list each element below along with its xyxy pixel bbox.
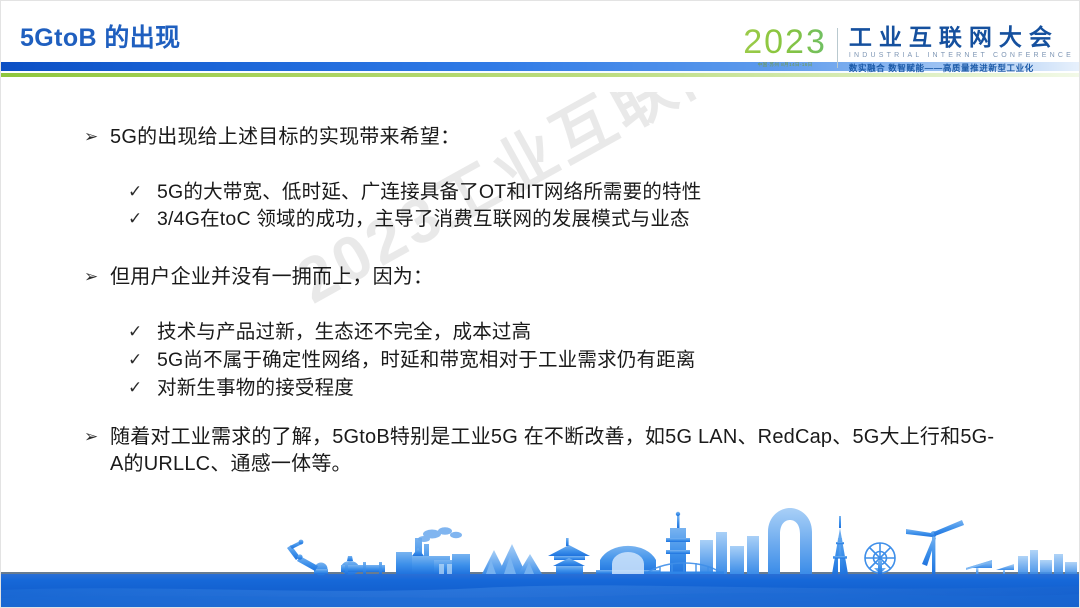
presentation-slide: 5GtoB 的出现 2023 中国·苏州 8月14日-16日 工业互联网大会 I… <box>0 0 1080 608</box>
bullet-text-1: 5G的出现给上述目标的实现带来希望： <box>110 124 460 151</box>
arrow-bullet-icon: ➢ <box>84 124 110 149</box>
logo-english-title: INDUSTRIAL INTERNET CONFERENCE <box>849 52 1074 59</box>
bullet-item-1: ➢ 5G的出现给上述目标的实现带来希望： <box>84 124 460 151</box>
sub-bullet-item-4: ✓ 5G尚不属于确定性网络，时延和带宽相对于工业需求仍有距离 <box>128 348 696 373</box>
check-bullet-icon: ✓ <box>128 376 157 400</box>
bullet-item-2: ➢ 但用户企业并没有一拥而上，因为： <box>84 264 433 291</box>
check-bullet-icon: ✓ <box>128 320 157 344</box>
sub-bullet-item-3: ✓ 技术与产品过新，生态还不完全，成本过高 <box>128 320 531 345</box>
sub-bullet-text-3: 技术与产品过新，生态还不完全，成本过高 <box>157 320 531 345</box>
sub-bullet-text-2: 3/4G在toC 领域的成功，主导了消费互联网的发展模式与业态 <box>157 207 690 232</box>
sub-bullet-item-1: ✓ 5G的大带宽、低时延、广连接具备了OT和IT网络所需要的特性 <box>128 180 701 205</box>
sub-bullet-text-1: 5G的大带宽、低时延、广连接具备了OT和IT网络所需要的特性 <box>157 180 701 205</box>
arrow-bullet-icon: ➢ <box>84 264 110 289</box>
logo-text-block: 工业互联网大会 INDUSTRIAL INTERNET CONFERENCE 数… <box>838 26 1074 74</box>
sub-bullet-text-5: 对新生事物的接受程度 <box>157 376 354 401</box>
logo-year-subtitle: 中国·苏州 8月14日-16日 <box>757 61 812 68</box>
check-bullet-icon: ✓ <box>128 207 157 231</box>
sub-bullet-item-2: ✓ 3/4G在toC 领域的成功，主导了消费互联网的发展模式与业态 <box>128 207 690 232</box>
sub-bullet-item-5: ✓ 对新生事物的接受程度 <box>128 376 354 401</box>
sub-bullet-text-4: 5G尚不属于确定性网络，时延和带宽相对于工业需求仍有距离 <box>157 348 696 373</box>
check-bullet-icon: ✓ <box>128 348 157 372</box>
logo-chinese-title: 工业互联网大会 <box>849 26 1074 49</box>
slide-body: ➢ 5G的出现给上述目标的实现带来希望： ✓ 5G的大带宽、低时延、广连接具备了… <box>0 92 1080 512</box>
check-bullet-icon: ✓ <box>128 180 157 204</box>
page-title: 5GtoB 的出现 <box>20 18 181 54</box>
bullet-text-2: 但用户企业并没有一拥而上，因为： <box>110 264 433 291</box>
logo-year-text: 2023 <box>743 26 827 58</box>
slide-footer <box>0 498 1080 608</box>
logo-year-block: 2023 中国·苏州 8月14日-16日 <box>743 26 837 68</box>
conference-logo: 2023 中国·苏州 8月14日-16日 工业互联网大会 INDUSTRIAL … <box>743 26 1074 74</box>
bullet-text-3: 随着对工业需求的了解，5GtoB特别是工业5G 在不断改善，如5G LAN、Re… <box>110 424 1004 478</box>
bullet-item-3: ➢ 随着对工业需求的了解，5GtoB特别是工业5G 在不断改善，如5G LAN、… <box>84 424 1004 478</box>
city-skyline-graphic <box>0 498 1080 608</box>
logo-chinese-tagline: 数实融合 数智赋能——高质量推进新型工业化 <box>849 62 1074 74</box>
slide-header: 5GtoB 的出现 2023 中国·苏州 8月14日-16日 工业互联网大会 I… <box>0 0 1080 92</box>
arrow-bullet-icon: ➢ <box>84 424 110 449</box>
